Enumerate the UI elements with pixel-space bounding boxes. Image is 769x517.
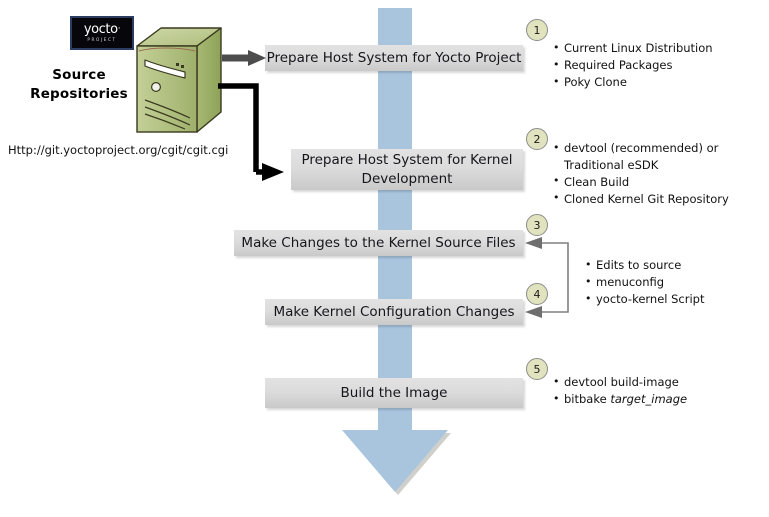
- process-box-step-2[interactable]: Prepare Host System for KernelDevelopmen…: [291, 149, 523, 190]
- step-number-2-label: 2: [534, 133, 541, 146]
- list-item-text: devtool build-image: [564, 375, 679, 389]
- list-item: bitbake target_image: [553, 391, 761, 408]
- source-repositories-url: Http://git.yoctoproject.org/cgit/cgit.cg…: [8, 143, 228, 157]
- yocto-logo-dot: ·: [118, 24, 120, 34]
- process-box-step-2-label: Prepare Host System for KernelDevelopmen…: [301, 151, 512, 189]
- step-number-1-label: 1: [534, 24, 541, 37]
- process-box-step-2-line1: Prepare Host System for Kernel: [301, 152, 512, 168]
- arrow-source-to-step2: [218, 86, 284, 181]
- step-number-3-label: 3: [534, 219, 541, 232]
- process-box-step-4[interactable]: Make Kernel Configuration Changes: [265, 299, 523, 325]
- list-item: Required Packages: [553, 57, 761, 74]
- step-number-5: 5: [526, 358, 548, 380]
- yocto-logo-subtext: PROJECT: [87, 37, 116, 43]
- step-number-4-label: 4: [534, 288, 541, 301]
- yocto-logo-wordmark: yocto·: [84, 23, 120, 36]
- yocto-project-logo: yocto· PROJECT: [70, 16, 134, 50]
- process-box-step-1-label: Prepare Host System for Yocto Project: [267, 49, 522, 68]
- source-repositories-label: Source Repositories: [18, 66, 140, 104]
- step-number-4: 4: [526, 283, 548, 305]
- process-box-step-2-line2: Development: [362, 171, 453, 187]
- list-item: devtool (recommended) or Traditional eSD…: [553, 140, 761, 173]
- bullet-list-step-1: Current Linux Distribution Required Pack…: [553, 40, 761, 91]
- source-repositories-label-line2: Repositories: [18, 85, 140, 104]
- yocto-logo-text: yocto: [84, 22, 118, 37]
- step-number-3: 3: [526, 214, 548, 236]
- list-item: Edits to source: [585, 257, 765, 274]
- process-box-step-3-label: Make Changes to the Kernel Source Files: [241, 234, 515, 253]
- arrow-source-to-step1: [222, 50, 266, 66]
- process-box-step-4-label: Make Kernel Configuration Changes: [273, 303, 514, 322]
- list-item: devtool build-image: [553, 374, 761, 391]
- process-box-step-5[interactable]: Build the Image: [265, 378, 523, 408]
- step-number-2: 2: [526, 128, 548, 150]
- server-tower-icon: [133, 24, 225, 140]
- process-box-step-3[interactable]: Make Changes to the Kernel Source Files: [234, 230, 523, 256]
- bullet-list-steps-3-4: Edits to source menuconfig yocto-kernel …: [585, 257, 765, 308]
- flow-arrow-shaft: [378, 8, 412, 432]
- bullet-list-step-2: devtool (recommended) or Traditional eSD…: [553, 140, 761, 208]
- step-number-5-label: 5: [534, 363, 541, 376]
- process-box-step-1[interactable]: Prepare Host System for Yocto Project: [265, 45, 523, 71]
- source-repositories-label-line1: Source: [18, 66, 140, 85]
- list-item-emphasis: target_image: [610, 392, 687, 406]
- list-item: Poky Clone: [553, 74, 761, 91]
- list-item: Cloned Kernel Git Repository: [553, 191, 761, 208]
- flow-arrow-head: [342, 430, 448, 492]
- process-box-step-5-label: Build the Image: [341, 384, 448, 403]
- list-item: yocto-kernel Script: [585, 291, 765, 308]
- bullet-list-step-5: devtool build-image bitbake target_image: [553, 374, 761, 408]
- list-item: menuconfig: [585, 274, 765, 291]
- list-item: Current Linux Distribution: [553, 40, 761, 57]
- list-item: Clean Build: [553, 174, 761, 191]
- bracket-steps-3-4: [525, 237, 568, 318]
- diagram-canvas: yocto· PROJECT Source Repositories Http:…: [0, 0, 769, 517]
- step-number-1: 1: [526, 19, 548, 41]
- list-item-text: bitbake: [564, 392, 610, 406]
